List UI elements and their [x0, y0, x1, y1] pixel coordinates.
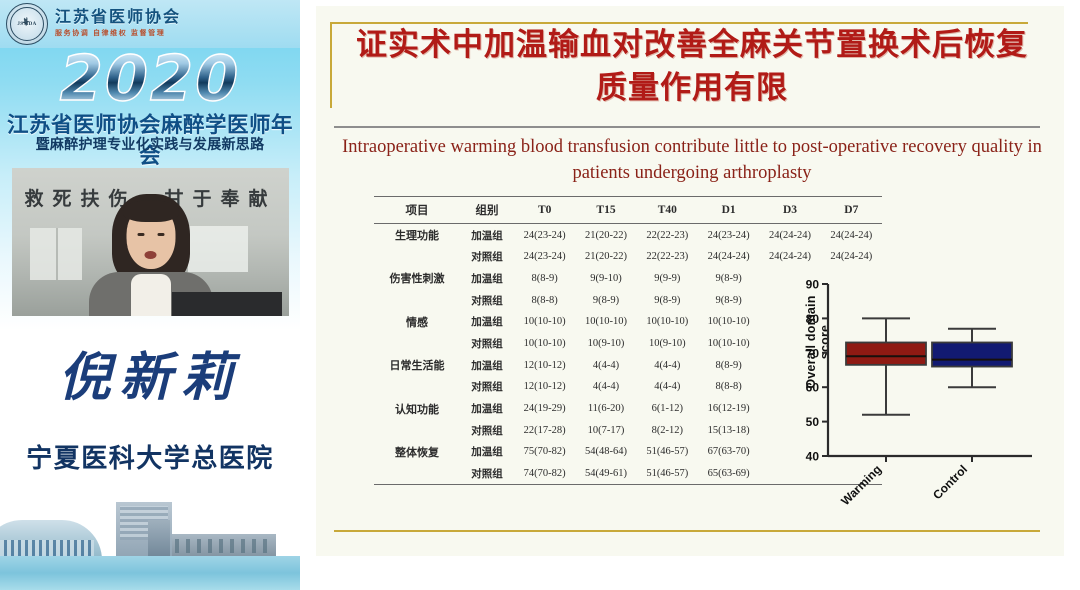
table-cell-value: 24(23-24): [514, 246, 575, 267]
slide-figure: 项目组别T0T15T40D1D3D7 生理功能加温组24(23-24)21(20…: [356, 196, 1036, 516]
table-cell-value: 10(9-10): [575, 333, 636, 354]
table-cell-group: 加温组: [460, 267, 514, 289]
skyline-tower-small: [148, 520, 170, 560]
table-cell-value: 9(9-10): [575, 267, 636, 289]
table-cell-value: 51(46-57): [637, 463, 698, 485]
boxplot-y-tick-label: 70: [806, 346, 820, 360]
table-header: 项目组别T0T15T40D1D3D7: [374, 197, 882, 224]
table-cell-group: 加温组: [460, 354, 514, 376]
table-cell-value: 12(10-12): [514, 354, 575, 376]
organization-subtitle: 服务协调 自律维权 监督管理: [55, 28, 181, 38]
table-cell-group: 对照组: [460, 246, 514, 267]
table-cell-value: 10(7-17): [575, 420, 636, 441]
skyline-water: [0, 556, 300, 590]
table-cell-group: 加温组: [460, 398, 514, 420]
table-cell-value: 74(70-82): [514, 463, 575, 485]
table-cell-value: 22(22-23): [637, 246, 698, 267]
boxplot-box: [846, 342, 926, 364]
table-cell-value: 51(46-57): [637, 441, 698, 463]
table-cell-item: 日常生活能: [374, 354, 460, 376]
table-cell-value: 65(63-69): [698, 463, 759, 485]
boxplot-y-tick-label: 40: [806, 450, 820, 464]
table-cell-item: [374, 376, 460, 397]
speaker-affiliation: 宁夏医科大学总医院: [0, 438, 300, 475]
table-cell-value: 24(23-24): [698, 224, 759, 247]
table-cell-value: 67(63-70): [698, 441, 759, 463]
table-cell-group: 加温组: [460, 224, 514, 247]
table-cell-value: 10(10-10): [514, 333, 575, 354]
table-cell-item: [374, 290, 460, 311]
table-cell-value: 8(8-9): [514, 267, 575, 289]
table-cell-value: 6(1-12): [637, 398, 698, 420]
table-cell-group: 对照组: [460, 376, 514, 397]
table-cell-value: 8(2-12): [637, 420, 698, 441]
table-cell-group: 加温组: [460, 441, 514, 463]
table-cell-value: 21(20-22): [575, 246, 636, 267]
table-cell-item: 生理功能: [374, 224, 460, 247]
table-cell-value: 12(10-12): [514, 376, 575, 397]
association-seal-icon: JSMDA: [6, 3, 48, 45]
seal-text: JSMDA: [17, 22, 36, 27]
skyline-dome: [0, 520, 102, 560]
table-cell-value: 9(8-9): [698, 290, 759, 311]
table-col-header: D7: [821, 197, 882, 224]
presentation-slide: 证实术中加温输血对改善全麻关节置换术后恢复质量作用有限 Intraoperati…: [300, 0, 1080, 590]
title-divider: [334, 126, 1040, 128]
table-row: 生理功能加温组24(23-24)21(20-22)22(22-23)24(23-…: [374, 224, 882, 247]
table-cell-value: 4(4-4): [575, 354, 636, 376]
table-cell-item: 整体恢复: [374, 441, 460, 463]
table-cell-group: 对照组: [460, 290, 514, 311]
boxplot-box: [932, 342, 1012, 366]
organization-name: 江苏省医师协会: [55, 10, 181, 27]
boxplot-category-label: Control: [930, 462, 970, 502]
table-cell-group: 加温组: [460, 311, 514, 333]
slide-title-chinese: 证实术中加温输血对改善全麻关节置换术后恢复质量作用有限: [342, 24, 1042, 110]
slide-title-english: Intraoperative warming blood transfusion…: [342, 134, 1042, 187]
table-cell-value: 24(24-24): [698, 246, 759, 267]
table-cell-value: 24(24-24): [821, 246, 882, 267]
table-cell-value: 4(4-4): [637, 354, 698, 376]
table-cell-value: 9(8-9): [698, 267, 759, 289]
speaker-video-tile[interactable]: 救死扶伤 甘于奉献: [12, 168, 289, 316]
boxplot-box-warming: Warming: [838, 318, 926, 508]
table-cell-group: 对照组: [460, 420, 514, 441]
table-cell-value: 54(48-64): [575, 441, 636, 463]
boxplot-box-control: Control: [930, 329, 1012, 503]
table-row: 对照组24(23-24)21(20-22)22(22-23)24(24-24)2…: [374, 246, 882, 267]
table-cell-value: 54(49-61): [575, 463, 636, 485]
table-cell-value: 9(9-9): [637, 267, 698, 289]
table-cell-value: 4(4-4): [575, 376, 636, 397]
table-cell-value: 16(12-19): [698, 398, 759, 420]
table-col-header: D3: [759, 197, 820, 224]
table-cell-value: 10(10-10): [514, 311, 575, 333]
boxplot-plot-area: 405060708090WarmingControl: [786, 274, 1036, 514]
table-cell-value: 24(19-29): [514, 398, 575, 420]
conference-subtitle: 暨麻醉护理专业化实践与发展新思路: [0, 134, 300, 154]
table-cell-group: 对照组: [460, 463, 514, 485]
table-cell-item: 情感: [374, 311, 460, 333]
table-cell-value: 10(10-10): [698, 333, 759, 354]
speaker-name: 倪新莉: [0, 352, 300, 404]
screen-root: JSMDA 江苏省医师协会 服务协调 自律维权 监督管理 2020 江苏省医师协…: [0, 0, 1080, 590]
table-cell-item: [374, 333, 460, 354]
organization-header: JSMDA 江苏省医师协会 服务协调 自律维权 监督管理: [0, 0, 300, 48]
table-cell-value: 9(8-9): [575, 290, 636, 311]
table-col-header: T0: [514, 197, 575, 224]
table-cell-value: 10(10-10): [637, 311, 698, 333]
table-cell-value: 9(8-9): [637, 290, 698, 311]
table-cell-value: 24(24-24): [821, 224, 882, 247]
table-cell-value: 4(4-4): [637, 376, 698, 397]
boxplot-y-tick-label: 50: [806, 415, 820, 429]
table-col-header: D1: [698, 197, 759, 224]
table-cell-value: 24(23-24): [514, 224, 575, 247]
table-cell-value: 10(9-10): [637, 333, 698, 354]
video-desk: [172, 292, 282, 316]
table-cell-value: 75(70-82): [514, 441, 575, 463]
table-cell-value: 8(8-9): [698, 354, 759, 376]
video-window-left: [30, 228, 82, 280]
bottom-gold-rule: [334, 530, 1040, 532]
table-cell-value: 22(17-28): [514, 420, 575, 441]
table-cell-item: 认知功能: [374, 398, 460, 420]
boxplot-svg: 405060708090WarmingControl: [786, 274, 1036, 514]
table-cell-value: 11(6-20): [575, 398, 636, 420]
conference-sidebar: JSMDA 江苏省医师协会 服务协调 自律维权 监督管理 2020 江苏省医师协…: [0, 0, 300, 590]
table-cell-value: 24(24-24): [759, 246, 820, 267]
table-cell-item: 伤害性刺激: [374, 267, 460, 289]
table-col-header: T15: [575, 197, 636, 224]
table-cell-item: [374, 246, 460, 267]
boxplot-chart: Overall domain score 405060708090Warming…: [786, 274, 1036, 514]
table-col-header: 组别: [460, 197, 514, 224]
table-cell-value: 21(20-22): [575, 224, 636, 247]
city-skyline-graphic: [0, 495, 300, 590]
table-cell-value: 15(13-18): [698, 420, 759, 441]
table-cell-value: 10(10-10): [698, 311, 759, 333]
conference-year: 2020: [0, 48, 300, 110]
table-cell-item: [374, 463, 460, 485]
table-cell-value: 24(24-24): [759, 224, 820, 247]
table-cell-item: [374, 420, 460, 441]
table-cell-value: 8(8-8): [514, 290, 575, 311]
boxplot-category-label: Warming: [838, 462, 884, 508]
table-cell-value: 10(10-10): [575, 311, 636, 333]
slide-canvas: 证实术中加温输血对改善全麻关节置换术后恢复质量作用有限 Intraoperati…: [316, 6, 1064, 556]
boxplot-y-tick-label: 80: [806, 312, 820, 326]
boxplot-y-tick-label: 90: [806, 278, 820, 292]
boxplot-y-tick-label: 60: [806, 381, 820, 395]
table-cell-group: 对照组: [460, 333, 514, 354]
table-col-header: 项目: [374, 197, 460, 224]
table-cell-value: 8(8-8): [698, 376, 759, 397]
table-header-row: 项目组别T0T15T40D1D3D7: [374, 197, 882, 224]
table-cell-value: 22(22-23): [637, 224, 698, 247]
table-col-header: T40: [637, 197, 698, 224]
